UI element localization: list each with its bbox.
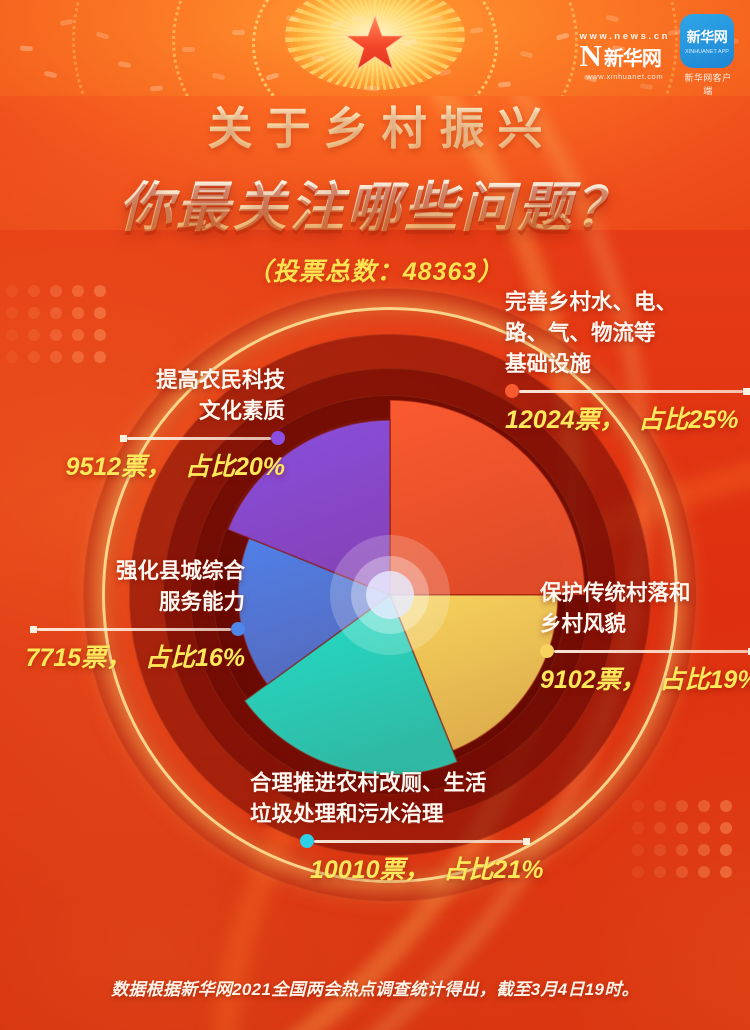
app-tile-icon[interactable]: 新华网 XINHUANET APP (680, 14, 734, 68)
infographic-poster: www.news.cn N 新华网 www.xinhuanet.com 新华网 … (0, 0, 750, 1030)
callout-dot (540, 644, 554, 658)
page-title-line2: 你最关注哪些问题？ (0, 163, 750, 242)
xinhua-logo[interactable]: www.news.cn N 新华网 www.xinhuanet.com 新华网 … (579, 14, 736, 97)
callout-value: 7715票， 占比16% (5, 638, 245, 674)
callout-connector (505, 384, 750, 398)
callout-label: 提高农民科技 文化素质 (45, 365, 285, 427)
callout-label: 合理推进农村改厕、生活 垃圾处理和污水治理 (250, 768, 590, 830)
callout-infrastructure[interactable]: 完善乡村水、电、 路、气、物流等 基础设施 12024票， 占比25% (505, 287, 750, 436)
app-tile-sub: XINHUANET APP (685, 49, 729, 55)
callout-value: 10010票， 占比21% (310, 850, 590, 886)
callout-value: 9512票， 占比20% (45, 447, 285, 483)
callout-connector (30, 622, 245, 636)
logo-url-bottom: www.xinhuanet.com (579, 72, 670, 81)
callout-dot (300, 834, 314, 848)
callout-connector (300, 834, 530, 848)
callout-value: 9102票， 占比19% (540, 660, 750, 696)
callout-traditional-villages[interactable]: 保护传统村落和 乡村风貌 9102票， 占比19% (540, 578, 750, 696)
callout-county-services[interactable]: 强化县城综合 服务能力 7715票， 占比16% (5, 556, 245, 674)
app-tile-name: 新华网 (687, 27, 728, 47)
callout-label: 强化县城综合 服务能力 (5, 556, 245, 618)
page-title-line1: 关于乡村振兴 (0, 92, 750, 157)
callout-value: 12024票， 占比25% (505, 400, 750, 436)
callout-toilets-waste-sewage[interactable]: 合理推进农村改厕、生活 垃圾处理和污水治理 10010票， 占比21% (250, 768, 590, 886)
callout-dot (505, 384, 519, 398)
callout-label: 保护传统村落和 乡村风貌 (540, 578, 750, 640)
callout-label: 完善乡村水、电、 路、气、物流等 基础设施 (505, 287, 750, 380)
callout-dot (231, 622, 245, 636)
app-badge[interactable]: 新华网 XINHUANET APP 新华网客户端 (680, 14, 736, 97)
callout-dot (271, 431, 285, 445)
footer-note: 数据根据新华网2021全国两会热点调查统计得出，截至3月4日19时。 (0, 975, 750, 1000)
logo-chinese-name: 新华网 (604, 42, 661, 71)
callout-farmer-education[interactable]: 提高农民科技 文化素质 9512票， 占比20% (45, 365, 285, 483)
hub-glow-inner (366, 571, 414, 619)
title-block: 关于乡村振兴 你最关注哪些问题？ （投票总数：48363） (0, 92, 750, 288)
callout-connector (540, 644, 750, 658)
callout-connector (120, 431, 285, 445)
logo-letter-n: N (579, 42, 601, 70)
